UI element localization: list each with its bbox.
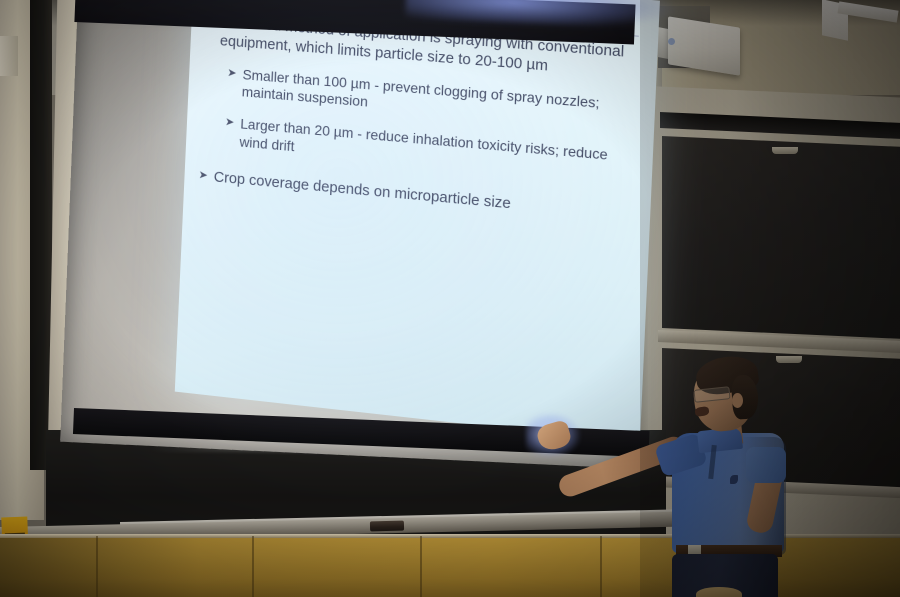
wood-seam: [252, 536, 254, 597]
chalkboard-eraser[interactable]: [370, 521, 404, 532]
wood-seam: [420, 536, 422, 597]
blackboard-handle-upper[interactable]: [772, 147, 798, 154]
presenter: [600, 355, 830, 597]
speaker-knob: [668, 38, 675, 45]
projected-slide: Crop applications: General consideration…: [175, 0, 660, 443]
shirt-logo-icon: [730, 475, 738, 484]
slide-bullet-text: Crop coverage depends on microparticle s…: [213, 169, 511, 215]
bullet-marker-icon: ➤: [224, 114, 235, 150]
projection-screen: Crop applications: General consideration…: [76, 0, 646, 482]
wood-seam: [96, 536, 98, 597]
blackboard-right-upper: [662, 136, 900, 339]
bullet-marker-icon: ➤: [198, 168, 208, 188]
presenter-sleeve-right: [746, 447, 786, 483]
bullet-marker-icon: ➤: [226, 65, 237, 101]
wall-plate: [0, 36, 18, 76]
audience-head: [696, 587, 742, 597]
presenter-ear: [732, 393, 743, 408]
lecture-hall-photo: Crop applications: General consideration…: [0, 0, 900, 597]
